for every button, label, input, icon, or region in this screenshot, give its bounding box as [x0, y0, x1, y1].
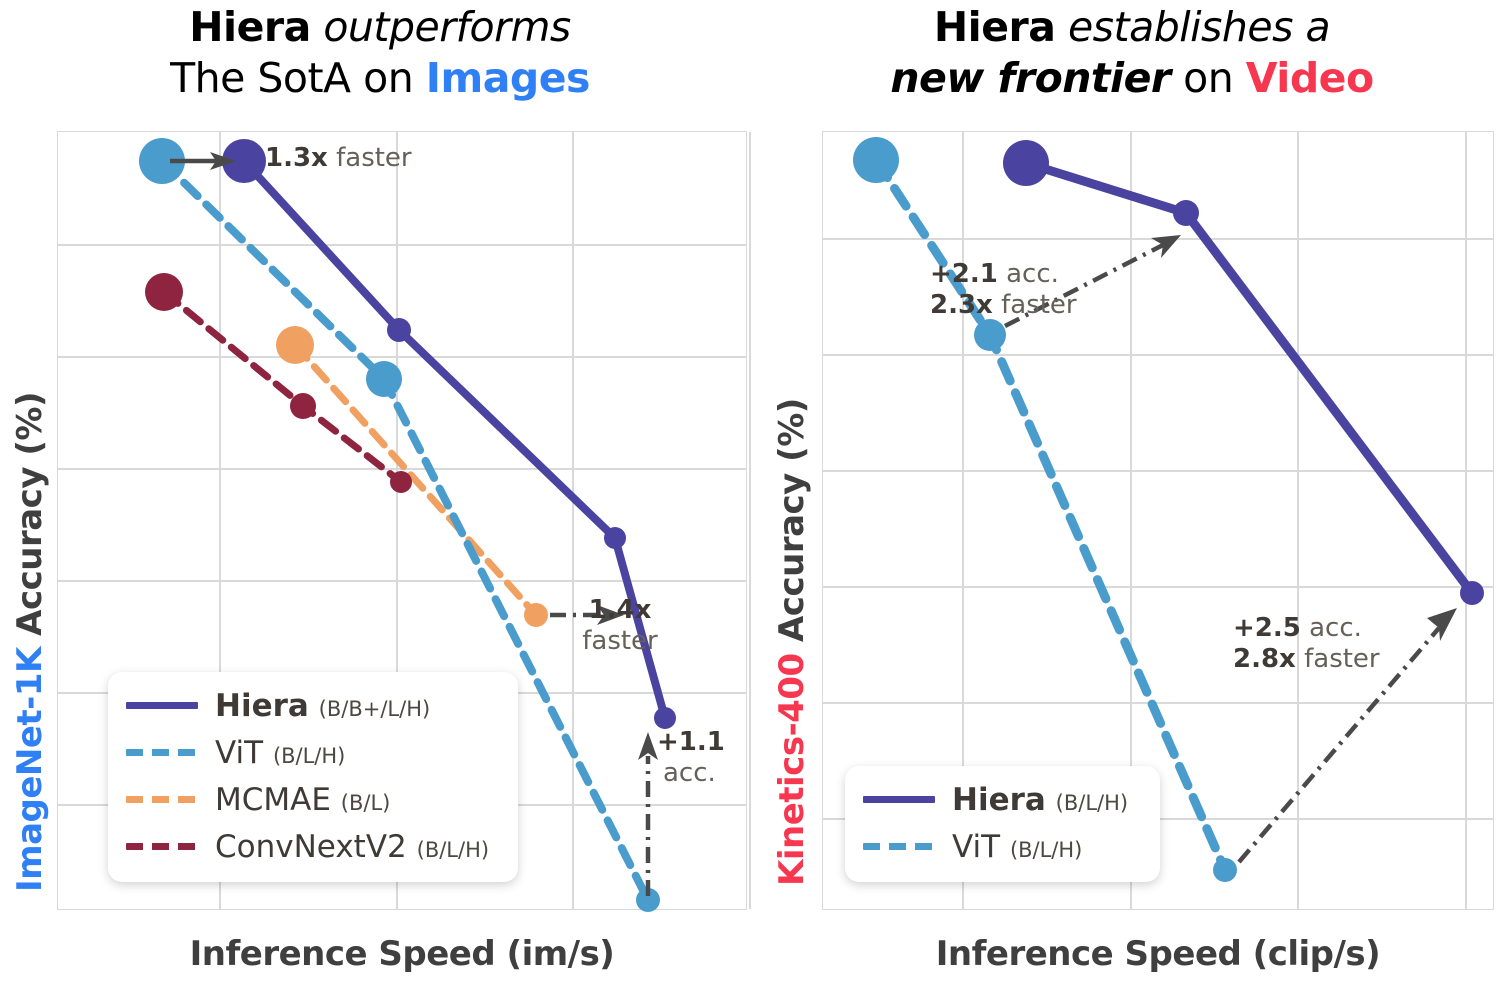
- annotation-2-8x-text: faster: [1296, 644, 1380, 674]
- title-plain-video: on: [1171, 54, 1246, 102]
- y-axis-label-right: Kinetics-400 Accuracy (%): [772, 398, 812, 886]
- title-italic-word-video: establishes a: [1055, 3, 1330, 51]
- legend-item-mcmae[interactable]: MCMAE (B/L): [126, 776, 500, 823]
- legend-swatch-hiera: [126, 702, 198, 709]
- data-point-hiera-bplus: [387, 318, 411, 342]
- series-line-hiera-video: [1026, 163, 1472, 593]
- data-point-hiera-video-b: [1003, 140, 1049, 186]
- annotation-2-8x-value: 2.8x: [1233, 644, 1296, 674]
- annotation-1-3x-value: 1.3x: [265, 143, 328, 173]
- title-bold-word: Hiera: [189, 3, 311, 51]
- legend-swatch-vit-video: [863, 843, 935, 850]
- series-line-mcmae: [295, 345, 536, 615]
- y-axis-label-metric-video: Accuracy (%): [772, 398, 812, 653]
- y-axis-label-left: ImageNet-1K Accuracy (%): [10, 392, 50, 892]
- annotation-plus-1-1-value: +1.1: [657, 727, 725, 757]
- x-axis-label-right: Inference Speed (clip/s): [822, 934, 1494, 974]
- data-point-convnextv2-b: [145, 273, 183, 311]
- annotation-plus-2-1-text: acc.: [998, 259, 1059, 289]
- legend-label-hiera-video: Hiera (B/L/H): [952, 782, 1128, 818]
- legend-label-hiera: Hiera (B/B+/L/H): [215, 688, 430, 724]
- data-point-vit-video-b: [853, 137, 899, 183]
- legend-label-mcmae: MCMAE (B/L): [215, 782, 390, 818]
- legend-video[interactable]: Hiera (B/L/H) ViT (B/L/H): [845, 766, 1160, 882]
- legend-item-convnextv2[interactable]: ConvNextV2 (B/L/H): [126, 823, 500, 870]
- annotation-2-3x-value: 2.3x: [930, 290, 993, 320]
- y-axis-label-dataset-video: Kinetics-400: [772, 653, 812, 886]
- title-plain-text: The SotA on: [170, 54, 426, 102]
- legend-item-hiera[interactable]: Hiera (B/B+/L/H): [126, 682, 500, 729]
- title-italic-word: outperforms: [311, 3, 571, 51]
- annotation-plus-2-5-text: acc.: [1301, 613, 1362, 643]
- y-axis-label-dataset: ImageNet-1K: [10, 647, 50, 892]
- panel-video-title: Hiera establishes a new frontier on Vide…: [760, 2, 1504, 104]
- data-point-vit-l: [366, 361, 402, 397]
- data-point-hiera-video-h: [1460, 581, 1484, 605]
- annotation-plus-2-5-block: +2.5 acc. 2.8x faster: [1233, 613, 1380, 675]
- x-axis-label-left: Inference Speed (im/s): [57, 934, 747, 974]
- data-point-mcmae-l: [524, 603, 548, 627]
- data-point-convnextv2-l: [290, 393, 316, 419]
- annotation-1-4x-faster: 1.4x faster: [565, 595, 675, 657]
- title-bold-word-video: Hiera: [934, 3, 1056, 51]
- data-point-vit-video-h: [1213, 858, 1237, 882]
- title-accent-images: Images: [426, 54, 590, 102]
- annotation-plus-2-5-value: +2.5: [1233, 613, 1301, 643]
- annotation-plus-1-1-text: acc.: [663, 758, 716, 788]
- title-bolditalic-video: new frontier: [890, 54, 1170, 102]
- panel-images: Hiera outperforms The SotA on Images Ima…: [0, 0, 760, 986]
- y-axis-label-metric: Accuracy (%): [10, 392, 50, 647]
- data-point-hiera-video-l: [1173, 200, 1199, 226]
- legend-item-vit[interactable]: ViT (B/L/H): [126, 729, 500, 776]
- panel-images-title: Hiera outperforms The SotA on Images: [0, 2, 760, 104]
- annotation-1-4x-value: 1.4x: [589, 595, 652, 625]
- data-point-hiera-h: [654, 707, 676, 729]
- legend-images[interactable]: Hiera (B/B+/L/H) ViT (B/L/H) MCMAE (B/L)…: [108, 672, 518, 882]
- data-point-convnextv2-h: [390, 471, 412, 493]
- annotation-plus-1-1-acc: +1.1 acc.: [657, 727, 767, 789]
- title-accent-video: Video: [1246, 54, 1374, 102]
- legend-swatch-mcmae: [126, 796, 198, 803]
- legend-label-vit: ViT (B/L/H): [215, 735, 345, 771]
- series-line-convnextv2: [164, 292, 401, 482]
- annotation-2-3x-text: faster: [993, 290, 1077, 320]
- legend-item-vit-video[interactable]: ViT (B/L/H): [863, 823, 1142, 870]
- annotation-arrow-plus-1-1: [638, 732, 658, 896]
- gridline-vertical: [749, 132, 751, 909]
- legend-swatch-hiera-video: [863, 796, 935, 803]
- x-axis-label-right-text: Inference Speed (clip/s): [936, 934, 1380, 974]
- legend-label-vit-video: ViT (B/L/H): [952, 829, 1082, 865]
- legend-label-convnextv2: ConvNextV2 (B/L/H): [215, 829, 489, 865]
- data-point-mcmae-b: [276, 326, 314, 364]
- legend-swatch-vit: [126, 749, 198, 756]
- data-point-hiera-l: [604, 527, 626, 549]
- data-point-vit-video-l: [974, 319, 1006, 351]
- annotation-plus-2-1-value: +2.1: [930, 259, 998, 289]
- x-axis-label-left-text: Inference Speed (im/s): [190, 934, 615, 974]
- annotation-1-3x-text: faster: [328, 143, 412, 173]
- figure-root: Hiera outperforms The SotA on Images Ima…: [0, 0, 1504, 986]
- annotation-1-4x-text: faster: [582, 626, 658, 656]
- legend-item-hiera-video[interactable]: Hiera (B/L/H): [863, 776, 1142, 823]
- annotation-1-3x-faster: 1.3x faster: [265, 143, 412, 174]
- annotation-plus-2-1-block: +2.1 acc. 2.3x faster: [930, 259, 1077, 321]
- legend-swatch-convnextv2: [126, 843, 198, 850]
